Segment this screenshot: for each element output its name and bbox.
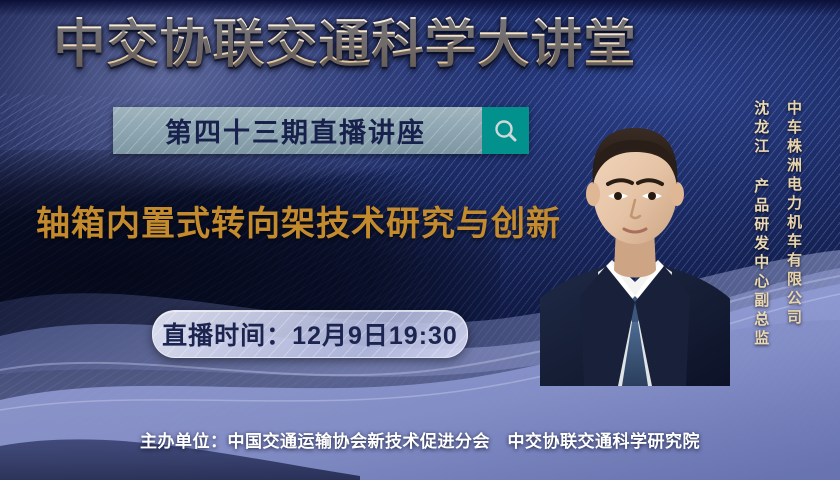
episode-label: 第四十三期直播讲座 [165, 111, 430, 150]
speaker-company: 中车株洲电力机车有限公司 [783, 100, 802, 328]
page-title: 中交协联交通科学大讲堂 [0, 14, 840, 76]
episode-banner-fill: 第四十三期直播讲座 [113, 107, 482, 154]
broadcast-time-badge: 直播时间：12月9日19:30 [152, 310, 468, 358]
speaker-portrait [540, 96, 730, 386]
lecture-topic-headline: 轴箱内置式转向架技术研究与创新 [36, 196, 561, 245]
broadcast-time-label: 直播时间：12月9日19:30 [162, 316, 458, 352]
episode-banner: 第四十三期直播讲座 [113, 107, 529, 154]
speaker-credit: 中车株洲电力机车有限公司 沈龙江 产品研发中心副总监 [751, 100, 803, 349]
search-icon[interactable] [482, 107, 529, 154]
live-lecture-poster: 中交协联交通科学大讲堂 第四十三期直播讲座 轴箱内置式转向架技术研究与创新 直播… [0, 0, 840, 480]
organizer-footer: 主办单位：中国交通运输协会新技术促进分会 中交协联交通科学研究院 [0, 427, 840, 452]
speaker-name-title: 沈龙江 产品研发中心副总监 [751, 100, 770, 349]
